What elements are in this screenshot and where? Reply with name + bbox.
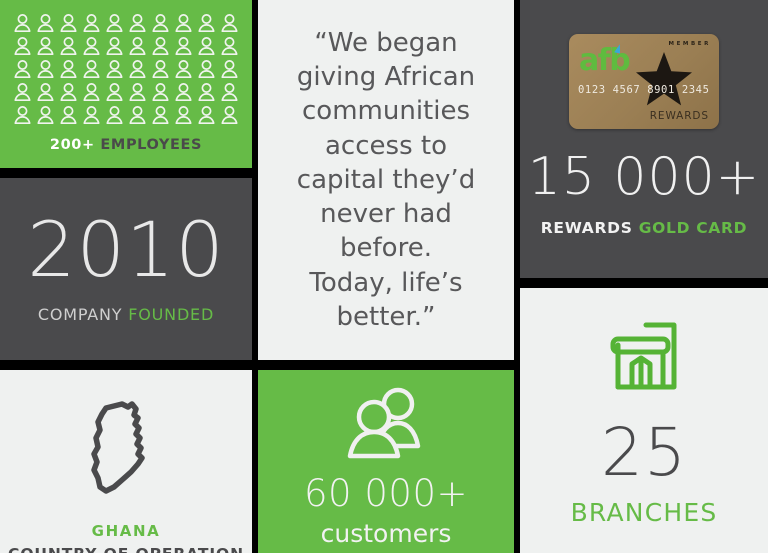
person-icon [57,81,80,104]
person-icon [149,81,172,104]
person-icon [11,35,34,58]
person-icon [126,35,149,58]
ghana-map-icon [76,392,176,508]
person-icon [172,58,195,81]
person-icon [195,58,218,81]
person-icon [218,104,241,127]
employees-word: EMPLOYEES [100,137,202,153]
ghana-country-name: GHANA [92,522,161,540]
person-icon [218,81,241,104]
person-icon [195,81,218,104]
infographic-board: 200+ EMPLOYEES 2010 COMPANY FOUNDED GHAN… [0,0,768,553]
employees-label: 200+ EMPLOYEES [50,137,202,153]
quote-text: “We began giving African communities acc… [281,26,491,335]
employees-count: 200+ [50,137,95,153]
person-icon [57,58,80,81]
person-icon [103,104,126,127]
person-icon [126,104,149,127]
person-icon [11,12,34,35]
person-icon [103,58,126,81]
ghana-sublabel: COUNTRY OF OPERATION [8,545,244,553]
storefront-icon [608,320,680,396]
two-people-icon [332,384,440,466]
rewards-label-accent: GOLD CARD [639,219,748,237]
person-icon [218,58,241,81]
branches-count: 25 [601,420,687,486]
rewards-label: REWARDS GOLD CARD [541,219,747,237]
card-member-text: MEMBER [669,41,712,47]
rewards-label-lead: REWARDS [541,219,633,237]
afb-logo: afb [579,46,629,76]
card-number-text: 0123 4567 8901 2345 [578,84,710,96]
rewards-count: 15 000+ [528,151,761,203]
person-icon [80,12,103,35]
person-icon [57,35,80,58]
person-icon [103,81,126,104]
person-icon [149,35,172,58]
founded-label-accent: FOUNDED [128,305,214,324]
person-icon [34,12,57,35]
person-icon [126,12,149,35]
person-icon [172,81,195,104]
panel-rewards-gold-card: afb MEMBER 0123 4567 8901 2345 REWARDS 1… [520,0,768,278]
person-icon [218,12,241,35]
branches-label: BRANCHES [571,498,718,527]
person-icon [126,58,149,81]
person-icon [149,104,172,127]
person-icon [34,104,57,127]
person-icon [195,104,218,127]
founded-label-lead: COMPANY [38,305,122,324]
person-icon [80,58,103,81]
person-icon [195,35,218,58]
customers-count: 60 000+ [304,472,468,515]
person-icon [172,104,195,127]
person-icon [80,104,103,127]
panel-company-founded: 2010 COMPANY FOUNDED [0,178,252,360]
person-icon [80,81,103,104]
person-icon [34,35,57,58]
person-icon [57,104,80,127]
person-icon [149,58,172,81]
person-icon [103,35,126,58]
person-icon [11,81,34,104]
person-icon [103,12,126,35]
rewards-gold-card-image: afb MEMBER 0123 4567 8901 2345 REWARDS [569,34,719,129]
person-icon [80,35,103,58]
people-icon-grid [11,12,241,127]
person-icon [218,35,241,58]
founded-year: 2010 [27,214,224,286]
star-icon [635,51,693,107]
person-icon [11,104,34,127]
person-icon [149,12,172,35]
card-rewards-text: REWARDS [650,110,709,122]
person-icon [172,12,195,35]
panel-branches: 25 BRANCHES [520,288,768,553]
person-icon [57,12,80,35]
panel-quote: “We began giving African communities acc… [258,0,514,360]
panel-country-of-operation: GHANA COUNTRY OF OPERATION [0,370,252,553]
person-icon [172,35,195,58]
customers-label: customers [321,519,452,548]
person-icon [11,58,34,81]
person-icon [34,81,57,104]
founded-label: COMPANY FOUNDED [38,305,214,324]
panel-employees: 200+ EMPLOYEES [0,0,252,168]
person-icon [34,58,57,81]
person-icon [126,81,149,104]
person-icon [195,12,218,35]
panel-customers: 60 000+ customers [258,370,514,553]
